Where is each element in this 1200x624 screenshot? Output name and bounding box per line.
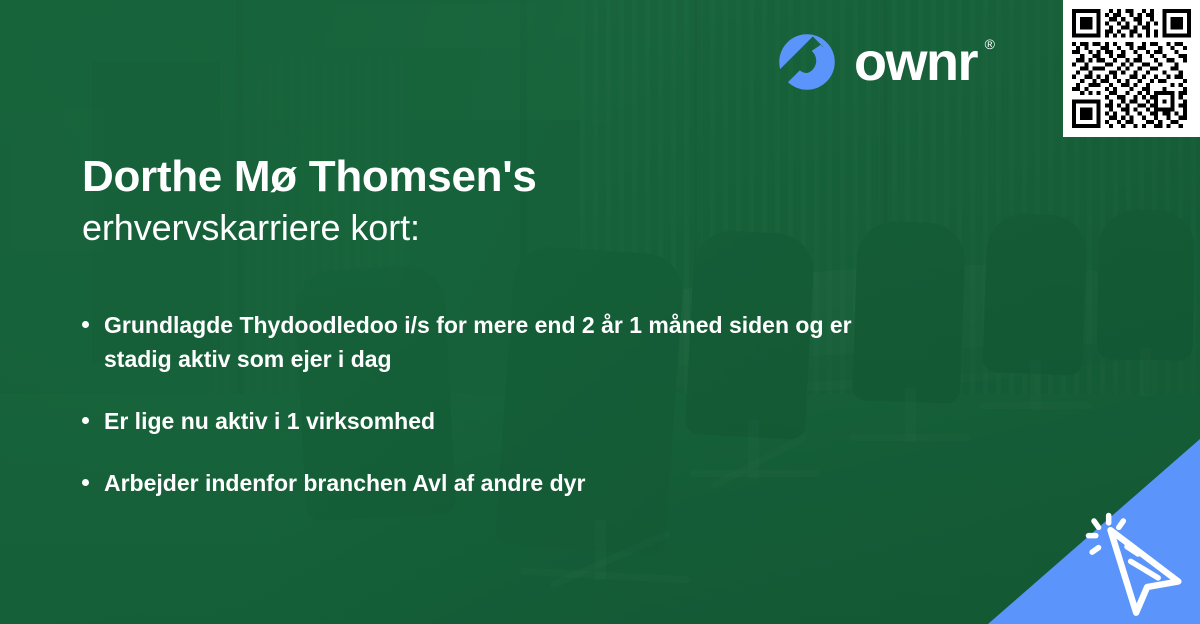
list-item: Er lige nu aktiv i 1 virksomhed <box>82 404 882 438</box>
click-cursor-icon <box>1082 510 1194 620</box>
brand-wordmark-text: ownr <box>854 32 977 92</box>
list-item: Arbejder indenfor branchen Avl af andre … <box>82 466 882 500</box>
registered-trademark-icon: ® <box>985 37 995 51</box>
profile-card: ownr® <box>0 0 1200 624</box>
qr-code-icon <box>1072 9 1191 128</box>
list-item: Grundlagde Thydoodledoo i/s for mere end… <box>82 308 882 376</box>
page-title: Dorthe Mø Thomsen's <box>82 152 912 201</box>
page-subtitle: erhvervskarriere kort: <box>82 205 912 252</box>
career-summary-list: Grundlagde Thydoodledoo i/s for mere end… <box>82 308 912 500</box>
brand-logo[interactable]: ownr® <box>778 33 995 91</box>
card-content: Dorthe Mø Thomsen's erhvervskarriere kor… <box>82 152 912 500</box>
brand-wordmark: ownr® <box>854 35 995 89</box>
qr-code[interactable] <box>1063 0 1200 137</box>
ownr-circle-logo-icon <box>778 33 836 91</box>
